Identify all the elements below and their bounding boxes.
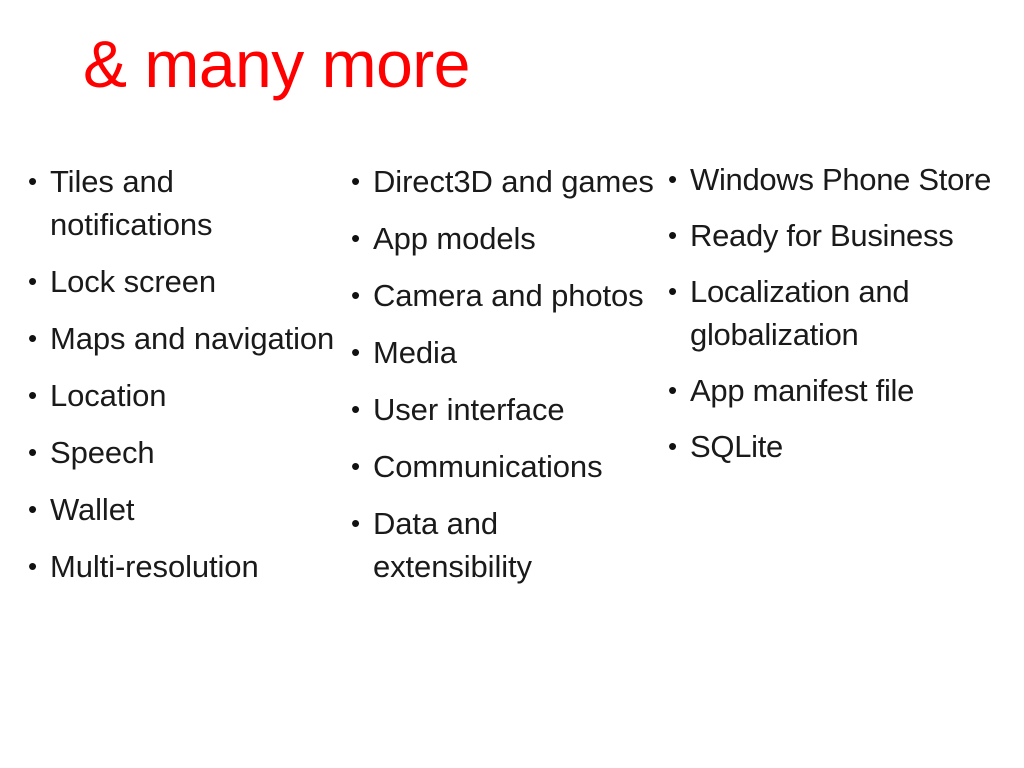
list-item-label: Lock screen — [50, 260, 336, 303]
list-item-label: Speech — [50, 431, 336, 474]
list-item-label: App models — [373, 217, 656, 260]
bullet-icon: • — [668, 214, 690, 257]
list-item-label: Ready for Business — [690, 214, 998, 257]
list-item: • Localization and globalization — [668, 270, 998, 356]
list-item-label: Tiles and notifications — [50, 160, 336, 246]
bullet-icon: • — [28, 260, 50, 303]
list-item-label: Location — [50, 374, 336, 417]
list-item-label: SQLite — [690, 425, 998, 468]
list-item: • Wallet — [28, 488, 336, 531]
bullet-icon: • — [351, 331, 373, 374]
list-item: • App models — [351, 217, 656, 260]
list-item-label: App manifest file — [690, 369, 998, 412]
bullet-icon: • — [668, 270, 690, 313]
list-item-label: Maps and navigation — [50, 317, 336, 360]
slide: & many more • Tiles and notifications • … — [0, 0, 1024, 768]
bullet-icon: • — [351, 217, 373, 260]
bullet-icon: • — [28, 545, 50, 588]
list-item: • Multi-resolution — [28, 545, 336, 588]
list-item: • Data and extensibility — [351, 502, 656, 588]
list-item: • Windows Phone Store — [668, 158, 998, 201]
bullet-icon: • — [351, 502, 373, 545]
bullet-icon: • — [28, 431, 50, 474]
list-item: • Direct3D and games — [351, 160, 656, 203]
list-item-label: User interface — [373, 388, 656, 431]
list-item: • Communications — [351, 445, 656, 488]
list-item: • Media — [351, 331, 656, 374]
list-item-label: Media — [373, 331, 656, 374]
bullet-icon: • — [351, 445, 373, 488]
bullet-icon: • — [351, 388, 373, 431]
bullet-column-3: • Windows Phone Store • Ready for Busine… — [668, 158, 998, 468]
list-item: • Lock screen — [28, 260, 336, 303]
bullet-icon: • — [28, 374, 50, 417]
bullet-icon: • — [668, 158, 690, 201]
list-item-label: Wallet — [50, 488, 336, 531]
list-item: • Speech — [28, 431, 336, 474]
bullet-icon: • — [668, 425, 690, 468]
bullet-icon: • — [28, 160, 50, 203]
bullet-column-1: • Tiles and notifications • Lock screen … — [28, 160, 336, 588]
list-item-label: Multi-resolution — [50, 545, 336, 588]
list-item-label: Communications — [373, 445, 656, 488]
bullet-icon: • — [351, 160, 373, 203]
list-item-label: Windows Phone Store — [690, 158, 998, 201]
list-item: • Tiles and notifications — [28, 160, 336, 246]
list-item: • Ready for Business — [668, 214, 998, 257]
list-item: • App manifest file — [668, 369, 998, 412]
list-item-label: Data and extensibility — [373, 502, 656, 588]
list-item: • SQLite — [668, 425, 998, 468]
list-item: • Location — [28, 374, 336, 417]
list-item-label: Localization and globalization — [690, 270, 998, 356]
bullet-icon: • — [351, 274, 373, 317]
bullet-columns: • Tiles and notifications • Lock screen … — [0, 0, 1024, 768]
bullet-icon: • — [28, 317, 50, 360]
bullet-icon: • — [28, 488, 50, 531]
list-item-label: Camera and photos — [373, 274, 656, 317]
list-item: • Camera and photos — [351, 274, 656, 317]
list-item: • User interface — [351, 388, 656, 431]
list-item: • Maps and navigation — [28, 317, 336, 360]
bullet-icon: • — [668, 369, 690, 412]
bullet-column-2: • Direct3D and games • App models • Came… — [351, 160, 656, 588]
list-item-label: Direct3D and games — [373, 160, 656, 203]
